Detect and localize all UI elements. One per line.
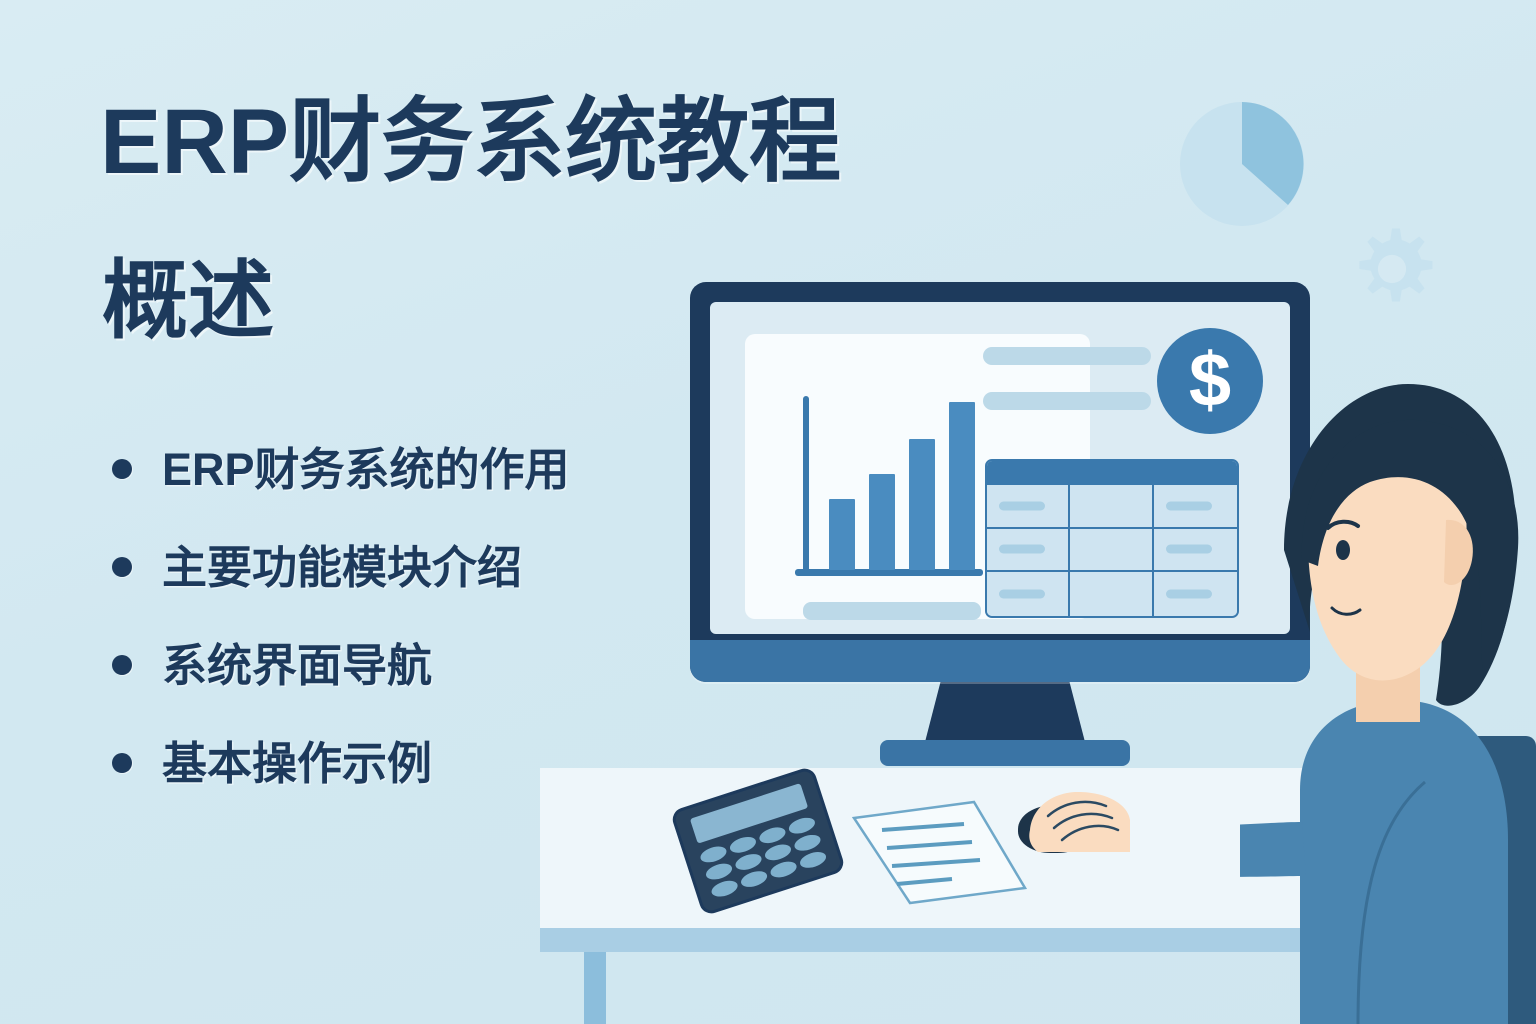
- calculator-key: [698, 844, 728, 866]
- calculator-key: [763, 842, 793, 864]
- chart-y-axis: [803, 396, 809, 576]
- monitor-chin: [690, 640, 1310, 682]
- list-item-label: 基本操作示例: [162, 741, 432, 786]
- calculator-key: [792, 832, 822, 854]
- sweater: [1300, 700, 1508, 1024]
- calculator-key: [798, 849, 828, 871]
- list-item-label: 主要功能模块介绍: [162, 545, 522, 590]
- table-cell: [987, 485, 1070, 529]
- monitor-stand-base: [880, 740, 1130, 766]
- bullet-dot-icon: [112, 557, 132, 577]
- placeholder-line: [803, 602, 981, 620]
- page-title: ERP财务系统教程: [100, 96, 841, 190]
- page-subtitle: 概述: [102, 258, 274, 344]
- chart-bar: [869, 474, 895, 570]
- table-cell: [987, 572, 1070, 616]
- list-item-label: ERP财务系统的作用: [162, 447, 570, 492]
- bullet-dot-icon: [112, 655, 132, 675]
- gear-icon: [1348, 225, 1436, 313]
- dollar-symbol: $: [1189, 343, 1231, 419]
- text-column: ERP财务系统教程 概述 ERP财务系统的作用 主要功能模块介绍 系统界面导航 …: [0, 0, 700, 1024]
- placeholder-line: [983, 392, 1151, 410]
- table-cell: [1154, 485, 1237, 529]
- calculator-key: [734, 851, 764, 873]
- table-cell: [1154, 529, 1237, 573]
- placeholder-line: [983, 347, 1151, 365]
- bar-chart: [803, 396, 983, 576]
- calculator-key: [787, 815, 817, 837]
- table-cell: [1070, 485, 1153, 529]
- poster-canvas: $: [0, 0, 1536, 1024]
- table-cell: [1070, 529, 1153, 573]
- list-item: 主要功能模块介绍: [112, 518, 712, 616]
- calculator-key: [710, 878, 740, 900]
- list-item: 基本操作示例: [112, 714, 712, 812]
- document-sheet: [852, 800, 1027, 905]
- bullet-dot-icon: [112, 459, 132, 479]
- list-item-label: 系统界面导航: [162, 643, 432, 688]
- chart-x-axis: [795, 569, 983, 576]
- monitor-stand-neck: [925, 680, 1085, 742]
- pie-chart-icon: [1178, 100, 1306, 228]
- table-cell: [1154, 572, 1237, 616]
- table-header-bar: [987, 461, 1237, 485]
- arm: [1240, 818, 1306, 877]
- person-at-computer: [1240, 370, 1536, 1024]
- hand-on-mouse: [1020, 786, 1130, 860]
- eye: [1336, 540, 1350, 560]
- data-table: [985, 459, 1239, 618]
- table-cell: [987, 529, 1070, 573]
- calculator-key: [769, 859, 799, 881]
- bullet-dot-icon: [112, 753, 132, 773]
- chart-bar: [949, 402, 975, 570]
- calculator-key: [739, 868, 769, 890]
- calculator-key: [728, 834, 758, 856]
- calculator-key: [704, 861, 734, 883]
- table-body: [987, 485, 1237, 616]
- bullet-list: ERP财务系统的作用 主要功能模块介绍 系统界面导航 基本操作示例: [112, 420, 712, 812]
- list-item: 系统界面导航: [112, 616, 712, 714]
- chart-bar: [829, 499, 855, 570]
- chart-bar: [909, 439, 935, 570]
- list-item: ERP财务系统的作用: [112, 420, 712, 518]
- table-cell: [1070, 572, 1153, 616]
- calculator-key: [757, 824, 787, 846]
